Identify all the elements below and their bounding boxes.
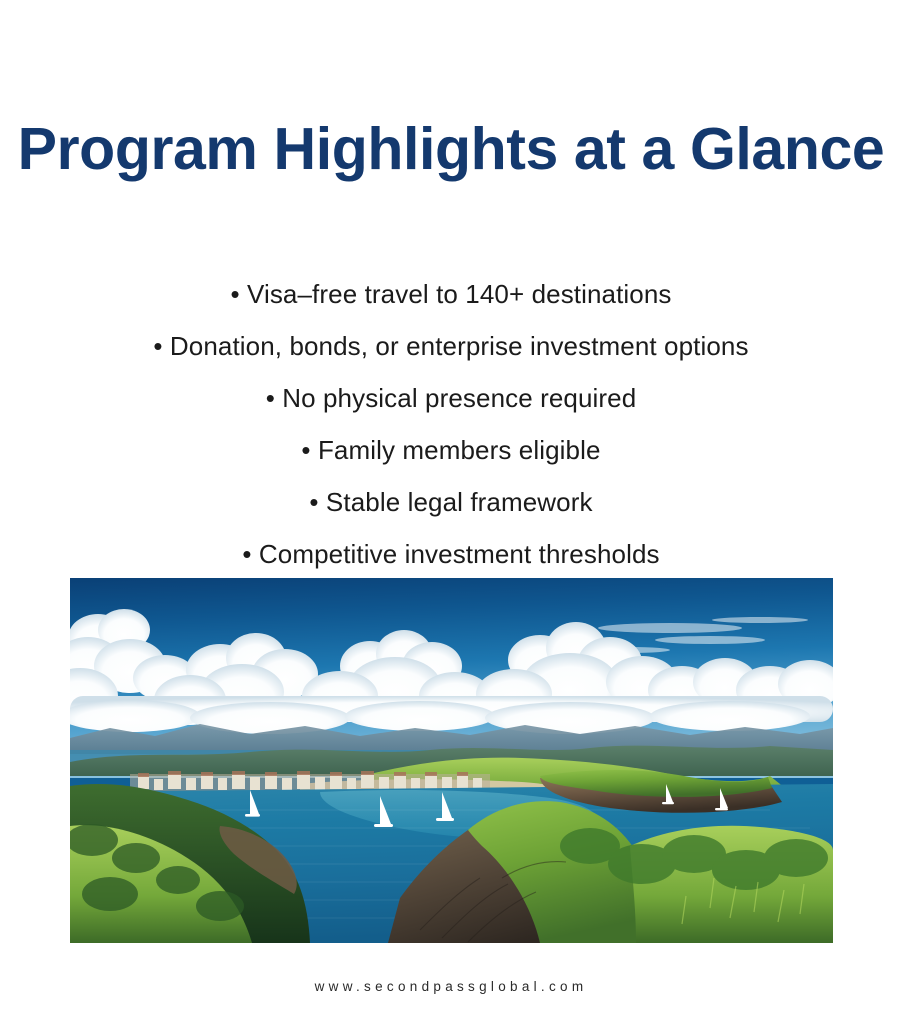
coastal-landscape-photo bbox=[70, 578, 833, 943]
list-item: • Stable legal framework bbox=[0, 476, 902, 528]
list-item: • Family members eligible bbox=[0, 424, 902, 476]
highlights-list: • Visa–free travel to 140+ destinations … bbox=[0, 268, 902, 580]
slide-canvas: Program Highlights at a Glance • Visa–fr… bbox=[0, 0, 902, 1024]
list-item: • No physical presence required bbox=[0, 372, 902, 424]
photo-illustration bbox=[70, 578, 833, 943]
list-item: • Visa–free travel to 140+ destinations bbox=[0, 268, 902, 320]
list-item: • Competitive investment thresholds bbox=[0, 528, 902, 580]
website-url[interactable]: www.secondpassglobal.com bbox=[0, 979, 902, 994]
list-item: • Donation, bonds, or enterprise investm… bbox=[0, 320, 902, 372]
page-title: Program Highlights at a Glance bbox=[0, 118, 902, 182]
